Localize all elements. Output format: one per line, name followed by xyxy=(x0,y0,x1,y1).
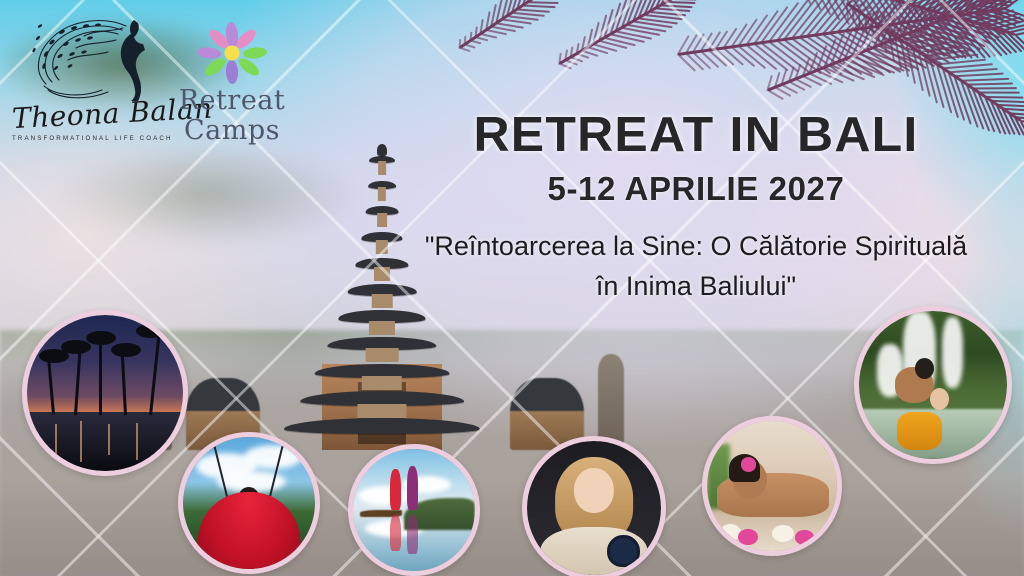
jumping-women-image xyxy=(353,449,475,571)
photo-circle-sunset-palms-beach[interactable] xyxy=(22,310,188,476)
dancing-woman-tree-icon xyxy=(22,10,152,102)
blonde-woman-image xyxy=(527,441,661,575)
photo-circle-jumping-women[interactable] xyxy=(348,444,480,576)
photo-circle-spa-massage[interactable] xyxy=(702,416,842,556)
coach-tagline: TRANSFORMATIONAL LIFE COACH xyxy=(12,135,172,142)
photo-circle-jungle-swing[interactable] xyxy=(178,432,320,574)
camps-line1: Retreat xyxy=(172,87,292,114)
quote-line-2: în Inima Baliului" xyxy=(380,266,1012,306)
coach-signature: Theona Balan xyxy=(11,94,173,135)
spa-massage-image xyxy=(707,421,837,551)
coach-logo[interactable]: Theona Balan TRANSFORMATIONAL LIFE COACH xyxy=(12,10,172,160)
flower-icon xyxy=(195,22,269,84)
retreat-poster: Theona Balan TRANSFORMATIONAL LIFE COACH xyxy=(0,0,1024,576)
sunset-palms-image xyxy=(27,315,183,471)
poster-quote: "Reîntoarcerea la Sine: O Călătorie Spir… xyxy=(372,226,1020,306)
waterfall-purification-image xyxy=(859,311,1007,459)
headline-block: RETREAT IN BALI 5-12 APRILIE 2027 "Reînt… xyxy=(372,108,1020,306)
camps-line2: Camps xyxy=(172,117,292,144)
photo-circle-waterfall-purification[interactable] xyxy=(854,306,1012,464)
photo-circle-blonde-woman-headphones[interactable] xyxy=(522,436,666,576)
retreat-camps-logo[interactable]: Retreat Camps xyxy=(172,22,292,137)
jungle-swing-image xyxy=(183,437,315,569)
quote-line-1: "Reîntoarcerea la Sine: O Călătorie Spir… xyxy=(380,226,1012,266)
poster-dates: 5-12 APRILIE 2027 xyxy=(372,168,1020,210)
poster-title: RETREAT IN BALI xyxy=(366,108,1024,162)
